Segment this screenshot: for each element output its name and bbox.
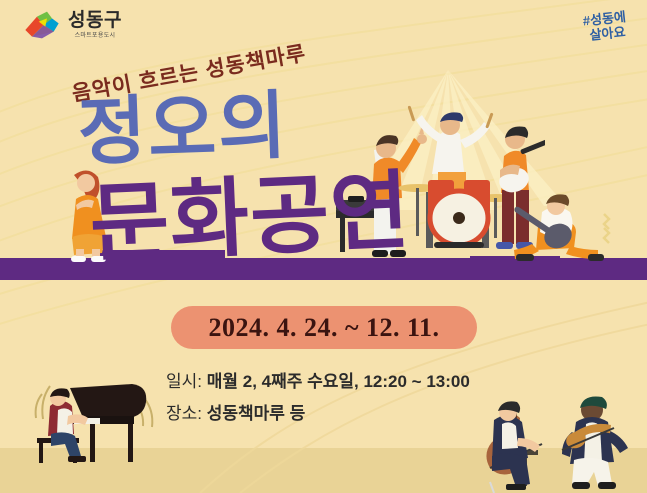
title-line-2: 문화공연 [88, 168, 412, 268]
venue-line: 장소: 성동책마루 등 [166, 398, 470, 430]
logo-subtitle: 스마트포용도시 [68, 33, 122, 39]
hashtag-slogan: #성동에 살아요 [582, 10, 628, 44]
schedule-line: 일시: 매월 2, 4째주 수요일, 12:20 ~ 13:00 [166, 366, 470, 398]
schedule-value: 매월 2, 4째주 수요일, 12:20 ~ 13:00 [207, 372, 470, 391]
event-details: 일시: 매월 2, 4째주 수요일, 12:20 ~ 13:00 장소: 성동책… [166, 366, 470, 431]
date-badge-text: 2024. 4. 24. ~ 12. 11. [208, 313, 439, 343]
event-poster: 성동구 스마트포용도시 #성동에 살아요 음악이 흐르는 성동책마루 [0, 0, 647, 493]
title-line-1: 정오의 [77, 89, 290, 170]
standing-violinist-illustration [552, 390, 638, 493]
venue-label: 장소: [166, 404, 202, 423]
hashtag-line-2: 살아요 [584, 25, 626, 44]
seongdong-gu-logo: 성동구 스마트포용도시 [22, 8, 122, 42]
drummer-figure [398, 105, 514, 248]
venue-value: 성동책마루 등 [207, 404, 306, 423]
logo-text-block: 성동구 스마트포용도시 [68, 11, 122, 39]
schedule-label: 일시: [166, 372, 202, 391]
seated-acoustic-guitarist-illustration [512, 192, 617, 264]
seongdong-gu-logo-icon [22, 8, 62, 42]
logo-title: 성동구 [68, 11, 122, 30]
date-badge: 2024. 4. 24. ~ 12. 11. [171, 306, 477, 349]
grand-piano-player-illustration [24, 358, 159, 466]
